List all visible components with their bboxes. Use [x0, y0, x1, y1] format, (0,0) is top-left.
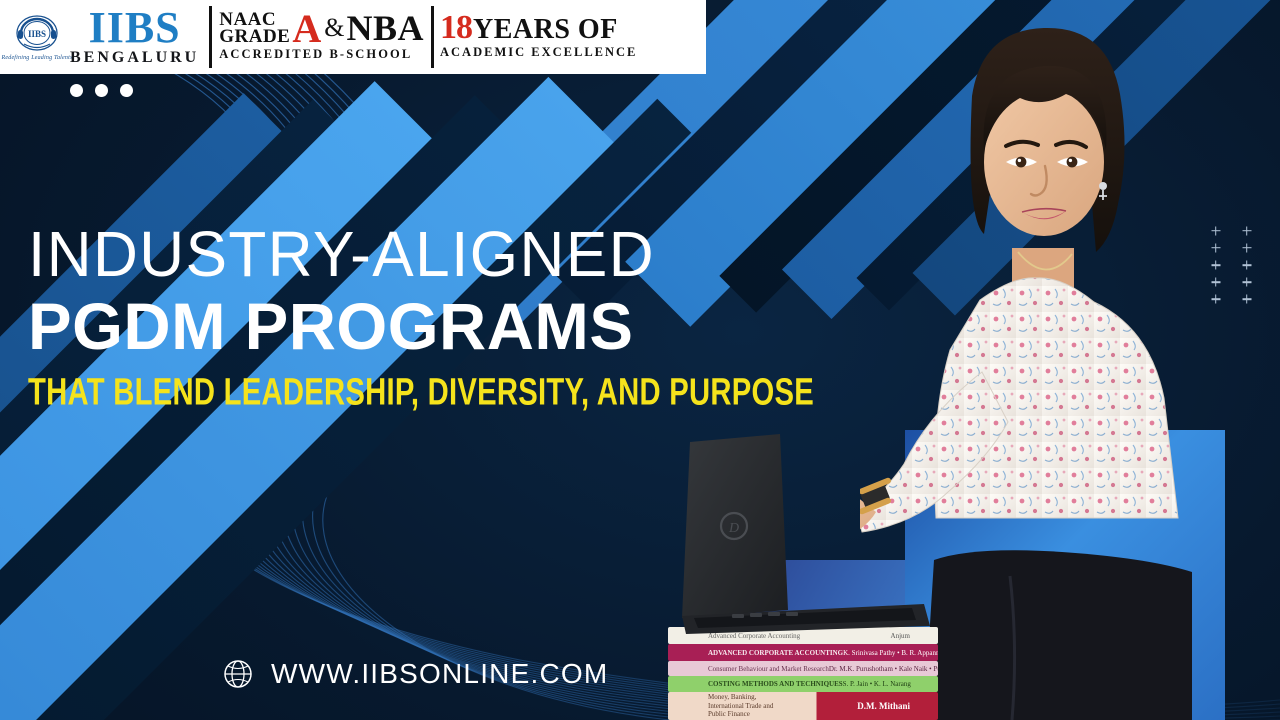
- promotional-banner: D Advanced Corporate Accounting Anjum AD…: [0, 0, 1280, 720]
- years-number: 18: [440, 14, 472, 43]
- dot-2: [95, 84, 108, 97]
- three-dots-decoration: [70, 84, 133, 97]
- svg-text:IIBS: IIBS: [28, 29, 46, 39]
- accreditation-subtitle: ACCREDITED B-SCHOOL: [219, 47, 424, 62]
- nba-label: NBA: [346, 13, 424, 44]
- logo-tagline: Redefining Leading Talents: [2, 55, 73, 61]
- institute-logo: IIBS Redefining Leading Talents: [6, 2, 68, 72]
- brand-city: BENGALURU: [70, 50, 199, 66]
- laptop: D: [672, 428, 932, 648]
- brand-name-block: IIBS BENGALURU: [68, 2, 205, 72]
- headline-line-1: INDUSTRY-ALIGNED: [28, 222, 823, 286]
- book-author: D.M. Mithani: [857, 701, 938, 711]
- book-title: Money, Banking, International Trade and …: [668, 693, 788, 719]
- accreditation-block: NAAC GRADE A & NBA ACCREDITED B-SCHOOL: [216, 2, 427, 72]
- grade-value: A: [292, 13, 321, 45]
- divider: [209, 6, 212, 68]
- iibs-seal-icon: IIBS: [14, 14, 60, 54]
- headline-block: INDUSTRY-ALIGNED PGDM PROGRAMS THAT BLEN…: [28, 222, 848, 409]
- book-item: Money, Banking, International Trade and …: [668, 692, 938, 720]
- headline-tagline: THAT BLEND LEADERSHIP, DIVERSITY, AND PU…: [28, 373, 733, 411]
- book-title: ADVANCED CORPORATE ACCOUNTING: [668, 649, 843, 657]
- dot-1: [70, 84, 83, 97]
- website-url[interactable]: WWW.IIBSONLINE.COM: [271, 658, 608, 690]
- brand-name: IIBS: [89, 8, 181, 48]
- svg-text:D: D: [728, 521, 739, 536]
- years-word: YEARS OF: [473, 18, 618, 42]
- years-subtitle: ACADEMIC EXCELLENCE: [440, 45, 637, 60]
- book-author: K. Srinivasa Pathy • B. R. Appannaiah: [843, 649, 938, 657]
- accreditation-logo-bar: IIBS Redefining Leading Talents IIBS BEN…: [0, 0, 706, 74]
- globe-icon: [222, 658, 254, 690]
- book-item: Consumer Behaviour and Market Research D…: [668, 661, 938, 676]
- website-footer[interactable]: WWW.IIBSONLINE.COM: [222, 658, 608, 690]
- headline-line-2: PGDM PROGRAMS: [28, 292, 840, 361]
- book-title: COSTING METHODS AND TECHNIQUES: [668, 680, 843, 688]
- ampersand: &: [324, 17, 344, 40]
- naac-grade-stack: NAAC GRADE: [219, 12, 290, 45]
- grade-label: GRADE: [219, 29, 290, 46]
- divider: [431, 6, 434, 68]
- dot-3: [120, 84, 133, 97]
- book-item: COSTING METHODS AND TECHNIQUES S. P. Jai…: [668, 676, 938, 692]
- book-title: Consumer Behaviour and Market Research: [668, 665, 829, 673]
- years-block: 18 YEARS OF ACADEMIC EXCELLENCE: [438, 2, 639, 72]
- book-author: S. P. Jain • K. L. Narang: [843, 680, 938, 688]
- book-author: Dr. M.K. Purushotham • Kale Naik • Pushp…: [829, 665, 938, 673]
